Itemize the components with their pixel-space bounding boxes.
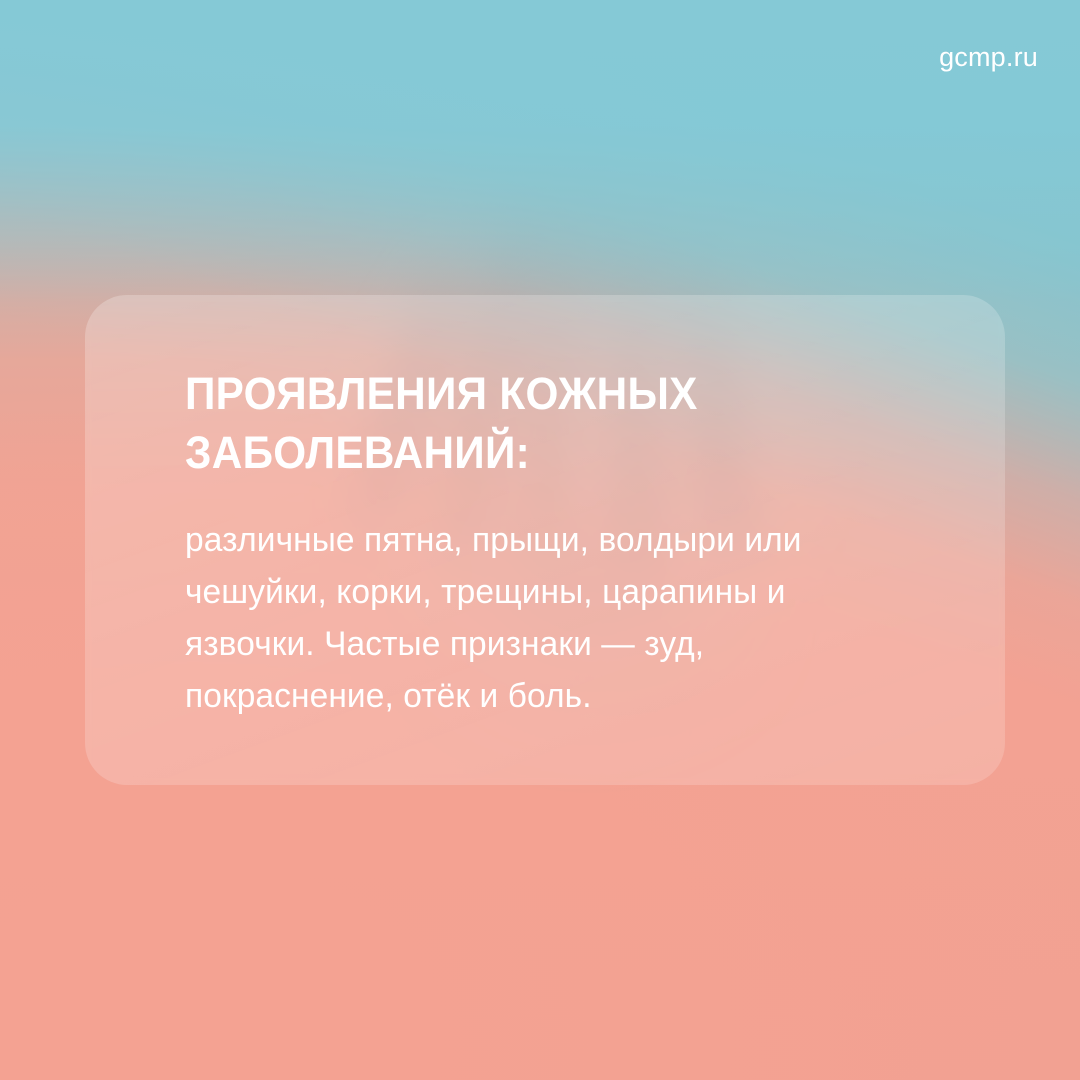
info-card: ПРОЯВЛЕНИЯ КОЖНЫХ ЗАБОЛЕВАНИЙ: различные… [85, 295, 1005, 785]
card-body-text: различные пятна, прыщи, волдыри или чешу… [185, 514, 914, 722]
card-title: ПРОЯВЛЕНИЯ КОЖНЫХ ЗАБОЛЕВАНИЙ: [185, 365, 871, 482]
site-watermark[interactable]: gcmp.ru [939, 44, 1038, 71]
slide-canvas: gcmp.ru ПРОЯВЛЕНИЯ КОЖНЫХ ЗАБОЛЕВАНИЙ: р… [0, 0, 1080, 1080]
